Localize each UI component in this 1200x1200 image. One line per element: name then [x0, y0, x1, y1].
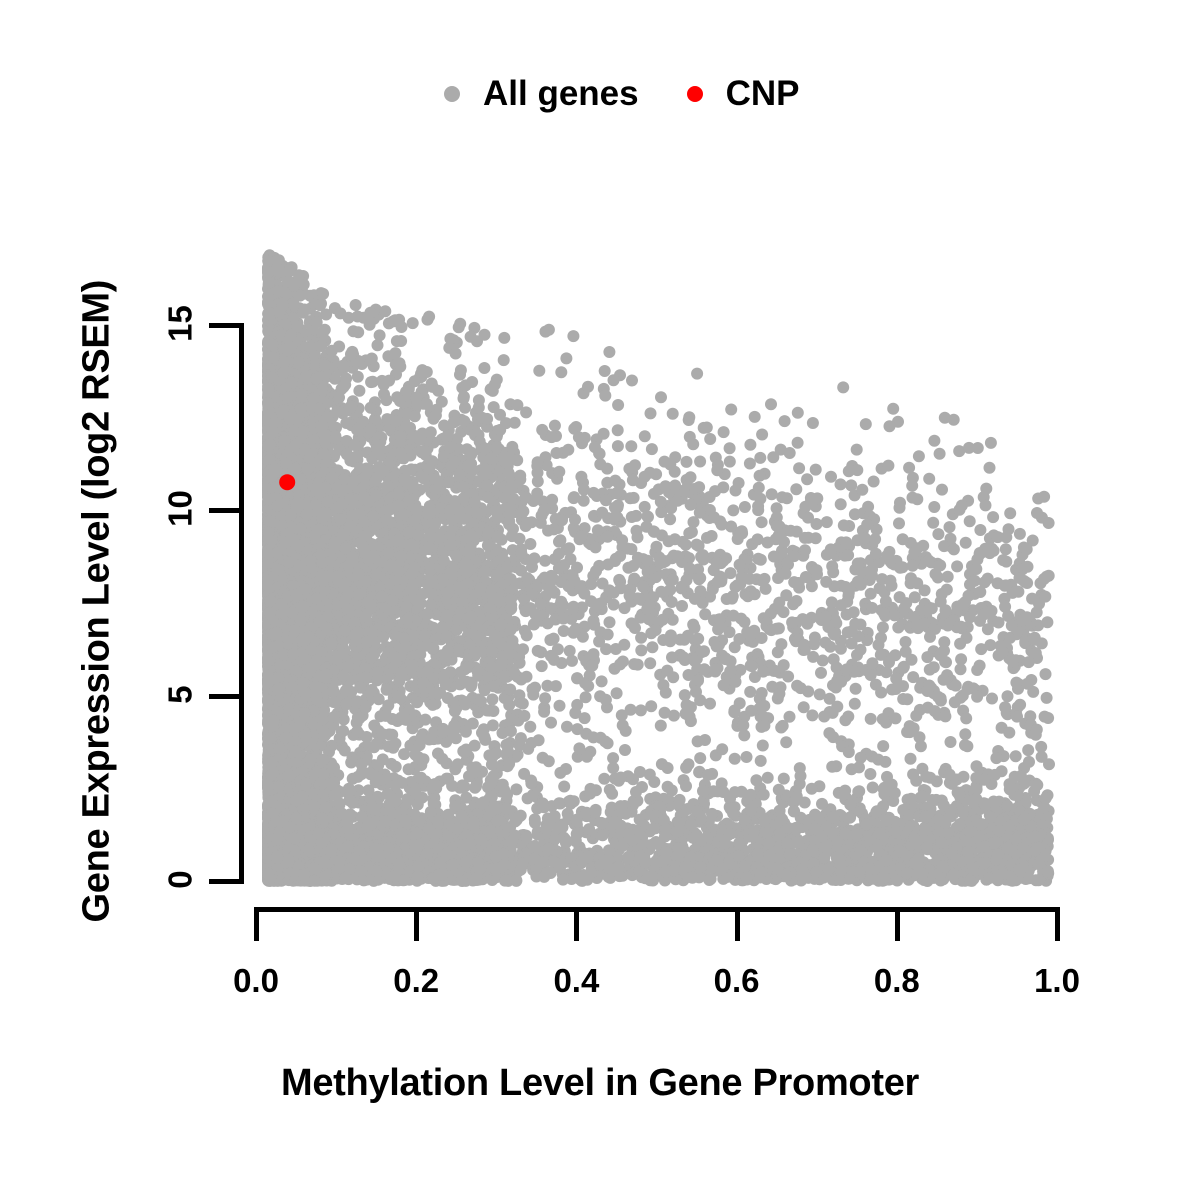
- x-tick-label: 0.4: [521, 964, 631, 997]
- x-axis-label: Methylation Level in Gene Promoter: [0, 1062, 1200, 1105]
- y-tick-mark: [209, 508, 244, 513]
- y-tick-mark: [209, 879, 244, 884]
- x-tick-mark: [574, 907, 579, 941]
- x-tick-label: 0.0: [201, 964, 311, 997]
- x-tick-mark: [895, 907, 900, 941]
- x-tick-mark: [735, 907, 740, 941]
- x-tick-mark: [254, 907, 259, 941]
- plot-area: [0, 0, 1200, 1200]
- x-tick-label: 0.6: [682, 964, 792, 997]
- x-tick-label: 0.2: [361, 964, 471, 997]
- scatter-points-canvas: [0, 0, 1200, 1200]
- scatter-point-cnp[interactable]: [279, 474, 295, 490]
- y-tick-mark: [209, 694, 244, 699]
- series-all-genes: [262, 249, 1055, 887]
- y-tick-mark: [209, 323, 244, 328]
- x-tick-mark: [1055, 907, 1060, 941]
- y-tick-label: 15: [164, 294, 197, 354]
- x-tick-label: 0.8: [842, 964, 952, 997]
- x-axis-line: [256, 907, 1059, 912]
- y-axis-line: [239, 325, 244, 883]
- scatter-plot-figure: All genes CNP 051015 0.00.20.40.60.81.0 …: [0, 0, 1200, 1200]
- series-cnp[interactable]: [279, 474, 295, 490]
- y-tick-label: 10: [164, 479, 197, 539]
- y-tick-label: 0: [164, 850, 197, 910]
- y-axis-label: Gene Expression Level (log2 RSEM): [76, 283, 119, 923]
- x-tick-label: 1.0: [1002, 964, 1112, 997]
- x-tick-mark: [414, 907, 419, 941]
- y-tick-label: 5: [164, 664, 197, 724]
- scatter-point-outlier: [1043, 758, 1055, 770]
